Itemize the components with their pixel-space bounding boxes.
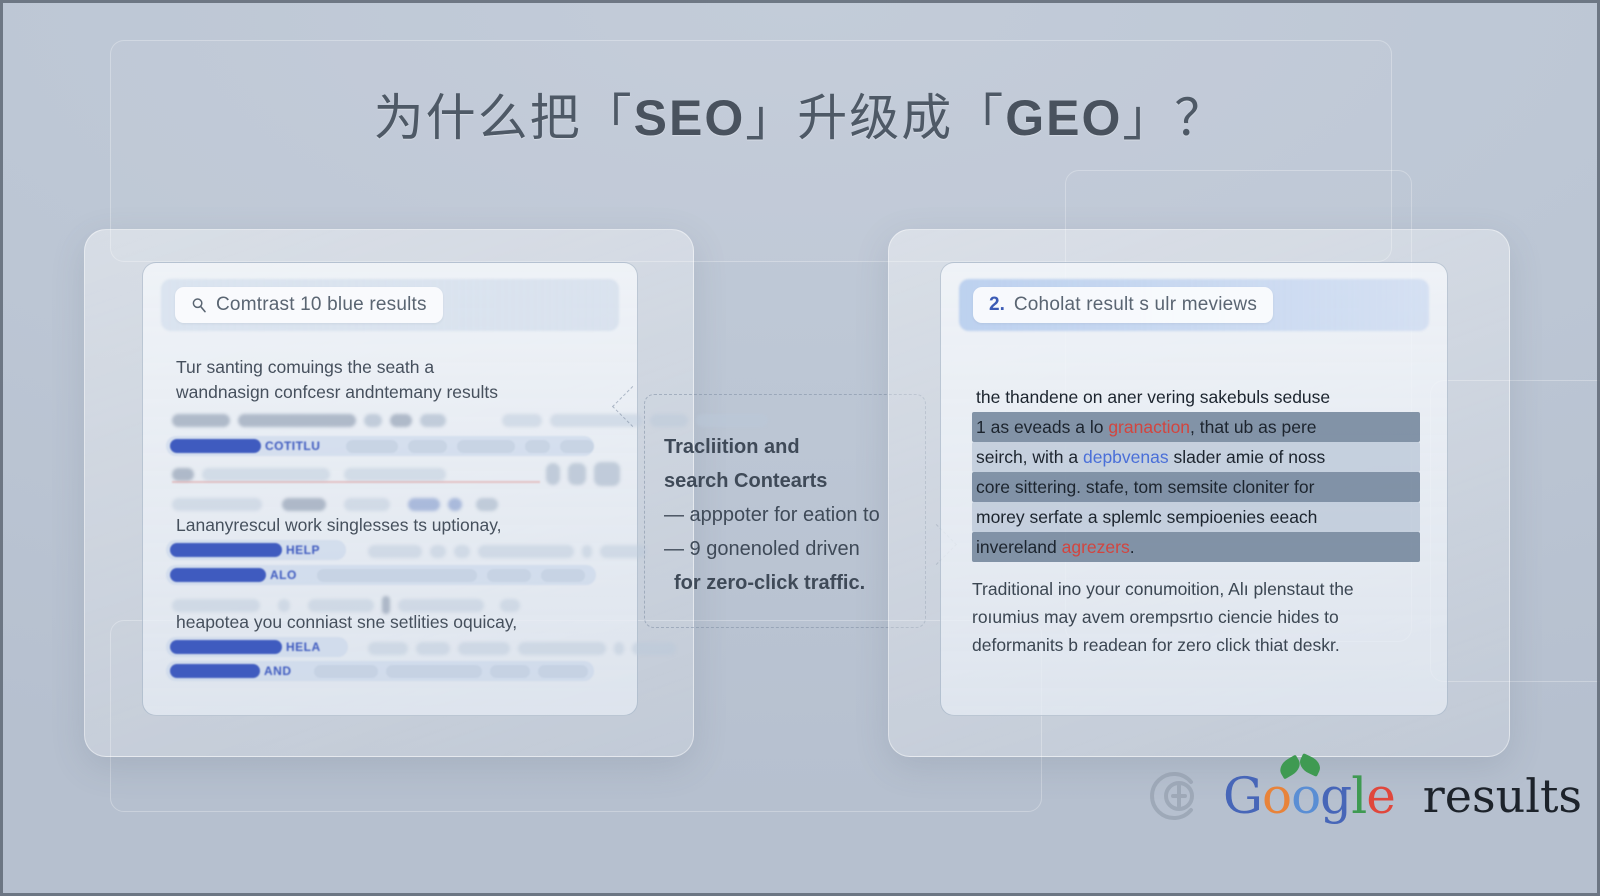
ai-answer-line: the thandene on aner vering sakebuls sed… <box>972 382 1420 412</box>
left-blue-tag-2: ALO <box>270 568 297 582</box>
left-blue-row: AND <box>166 661 594 681</box>
left-blue-row: COTITLU <box>166 436 594 456</box>
left-result-text-1: Lananyrescul work singlesses ts uptionay… <box>176 513 502 538</box>
right-search-header: 2. Coholat result s ulr meviews <box>941 279 1447 331</box>
google-letter-g2: g <box>1320 767 1351 825</box>
google-letter-l: l <box>1351 767 1366 825</box>
left-search-label: Comtrast 10 blue results <box>216 294 427 316</box>
right-tail-line-3: deformanits b readean for zero click thi… <box>972 631 1354 659</box>
left-blue-tag-3: HELA <box>286 640 321 654</box>
left-blue-row: ALO <box>166 565 596 585</box>
ai-red-token: agrezers <box>1062 537 1130 557</box>
left-blue-tag-1: HELP <box>286 543 320 557</box>
slide-canvas: 为什么把「SEO」升级成「GEO」？ Comtrast 10 blue resu… <box>0 0 1600 896</box>
ai-answer-line: invereland agrezers. <box>972 532 1420 562</box>
left-lead-line-2: wandnasign confcesr andntemany results <box>176 380 498 405</box>
ai-answer-line: morey serfate a splemlc sempioenies eeac… <box>972 502 1420 532</box>
connector-line-4: — 9 gonenoled driven <box>664 532 924 566</box>
connector-text: Tracliition and search Contearts — apppo… <box>664 430 924 600</box>
ai-answer-block: the thandene on aner vering sakebuls sed… <box>972 382 1420 562</box>
left-blue-row: HELP <box>166 540 346 560</box>
footer-logo-area: Google results <box>1145 766 1582 826</box>
left-result-text-2: heapotea you conniast sne setlities oqui… <box>176 610 517 635</box>
connector-line-1: Tracliition and <box>664 430 924 464</box>
left-blue-tag-4: AND <box>264 664 292 678</box>
title-term-geo: GEO <box>1005 90 1122 146</box>
results-wordmark: results <box>1423 769 1582 823</box>
left-search-header: Comtrast 10 blue results <box>143 279 637 331</box>
right-search-pill[interactable]: 2. Coholat result s ulr meviews <box>973 287 1273 323</box>
page-title: 为什么把「SEO」升级成「GEO」？ <box>0 78 1600 150</box>
right-search-label: Coholat result s ulr meviews <box>1014 294 1257 316</box>
right-tail-line-2: roıumius may avem orempsrtıo ciencie hid… <box>972 603 1354 631</box>
left-blue-tag-0: COTITLU <box>265 439 321 453</box>
left-pink-divider <box>172 481 540 483</box>
right-search-number: 2. <box>989 294 1005 316</box>
circle-e-icon <box>1145 766 1205 826</box>
connector-line-2: search Contearts <box>664 464 924 498</box>
google-wordmark: Google <box>1223 767 1395 825</box>
ai-answer-line: core sittering. stafe, tom semsite cloni… <box>972 472 1420 502</box>
left-search-pill[interactable]: Comtrast 10 blue results <box>175 287 443 323</box>
ai-answer-line: seirch, with a depbvenas slader amie of … <box>972 442 1420 472</box>
left-skeleton-row <box>172 498 498 511</box>
ai-red-token: granaction <box>1108 417 1190 437</box>
left-blue-row: HELA <box>166 637 348 657</box>
left-lead-text: Tur santing comuings the seath a wandnas… <box>176 355 498 405</box>
title-suffix: 」？ <box>1122 90 1226 146</box>
connector-line-3: — apppoter for eation to <box>664 498 924 532</box>
magnifier-icon <box>191 297 207 313</box>
left-skeleton-row <box>368 642 676 655</box>
ai-blue-token: depbvenas <box>1083 447 1169 467</box>
right-tail-line-1: Traditional ino your conumoition, Alı pl… <box>972 575 1354 603</box>
ai-answer-line: 1 as eveads a lo granaction, that ub as … <box>972 412 1420 442</box>
right-tail-paragraph: Traditional ino your conumoition, Alı pl… <box>972 575 1354 659</box>
connector-line-5: for zero-click traffic. <box>664 566 924 600</box>
google-letter-g1: G <box>1223 767 1262 825</box>
left-lead-line-1: Tur santing comuings the seath a <box>176 355 498 380</box>
title-mid: 」升级成「 <box>745 90 1005 146</box>
title-prefix: 为什么把「 <box>374 90 634 146</box>
left-skeleton-row <box>368 545 646 558</box>
google-letter-e: e <box>1366 767 1395 825</box>
title-term-seo: SEO <box>634 90 746 146</box>
